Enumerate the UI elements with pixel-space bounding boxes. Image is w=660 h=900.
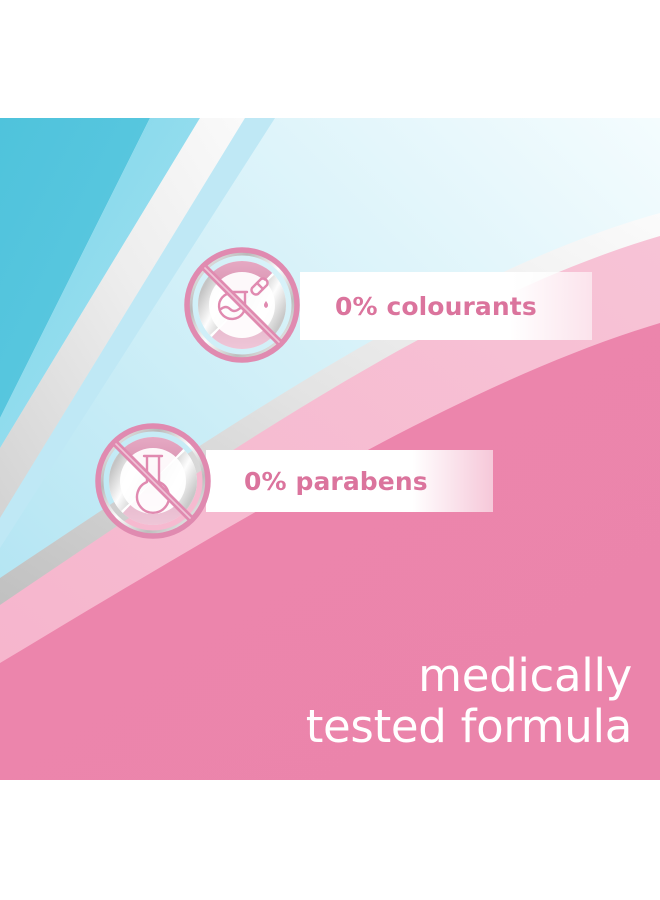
claim-band-colourants: 0% colourants — [300, 272, 592, 340]
claim-label-colourants: 0% colourants — [335, 292, 537, 321]
headline: medically tested formula — [0, 650, 632, 752]
promo-banner: 0% colourants 0% parabens — [0, 0, 660, 900]
headline-line-1: medically — [0, 650, 632, 701]
no-colourants-icon — [181, 243, 303, 367]
no-parabens-icon — [92, 419, 214, 543]
headline-line-2: tested formula — [0, 701, 632, 752]
claim-band-parabens: 0% parabens — [206, 450, 493, 512]
claim-label-parabens: 0% parabens — [244, 467, 428, 496]
